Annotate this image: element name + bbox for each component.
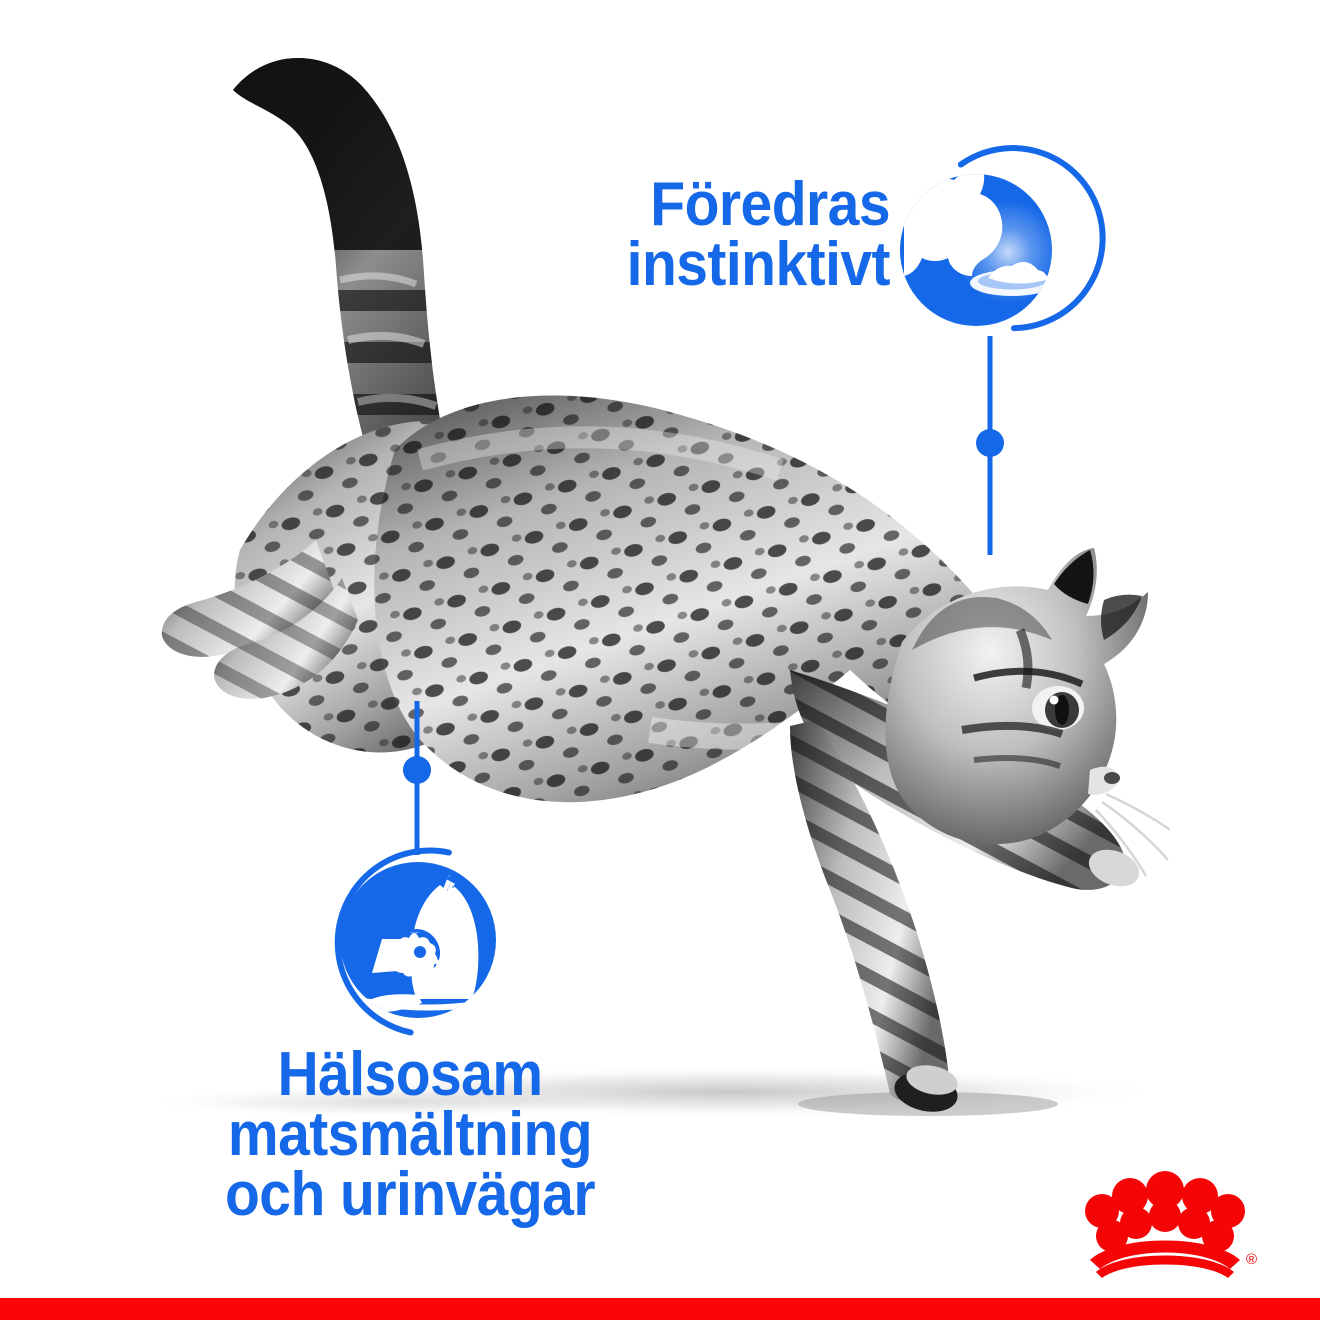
- cat-head: [885, 548, 1170, 876]
- badge-connector-dot: [976, 429, 1004, 457]
- benefit-badge-instinctive-preference[interactable]: [900, 140, 1100, 570]
- front-paw: [1084, 843, 1144, 893]
- royal-canin-logo: ®: [1070, 1168, 1260, 1283]
- cat-hind-legs: [150, 530, 380, 710]
- cat-eye: [1032, 686, 1084, 730]
- benefit-label-instinctive-preference: Föredras instinktivt: [467, 175, 890, 295]
- crown-logo-icon: [1085, 1171, 1245, 1278]
- brand-red-bar: [0, 1298, 1320, 1320]
- cat-front-leg-lower: [780, 710, 980, 1130]
- lower-paw: [891, 1067, 962, 1117]
- pack-panel-canvas: Föredras instinktivt: [0, 0, 1320, 1320]
- registered-mark: ®: [1246, 1251, 1257, 1268]
- whiskers: [1096, 794, 1170, 876]
- cat-front-leg-extended: [770, 650, 1150, 910]
- paw-contact-shadow: [798, 1092, 1058, 1116]
- benefit-label-digestive-urinary-health: Hälsosam matsmältning och urinvägar: [88, 1045, 732, 1225]
- benefit-badge-digestive-urinary-health[interactable]: [320, 695, 540, 1045]
- badge-connector-dot: [403, 756, 431, 784]
- cat-tail: [220, 50, 470, 510]
